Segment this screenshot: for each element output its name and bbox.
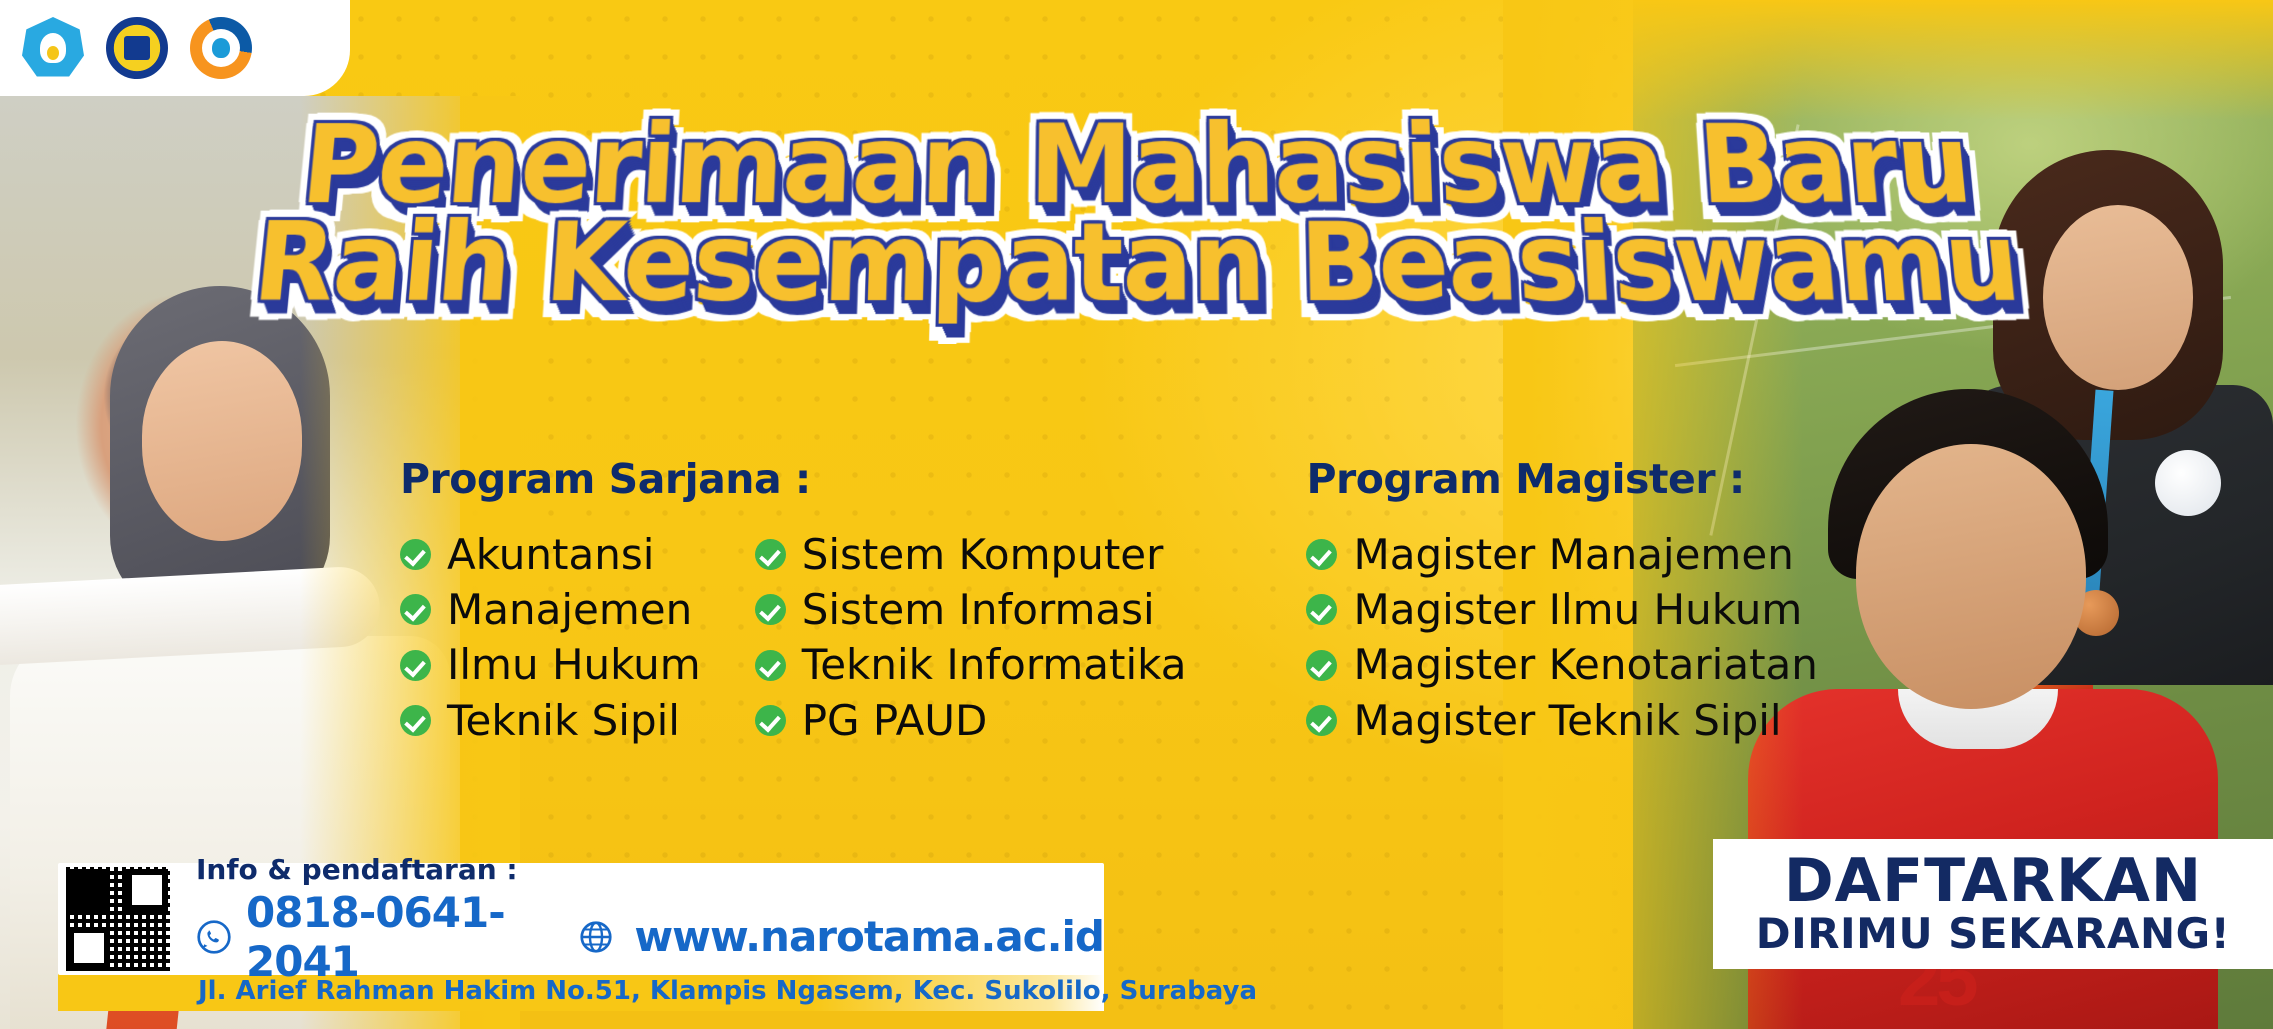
universitas-narotama-logo-icon xyxy=(106,17,168,79)
qr-code[interactable] xyxy=(66,867,170,971)
check-circle-icon xyxy=(400,539,431,570)
cta-banner[interactable]: DAFTARKAN DIRIMU SEKARANG! xyxy=(1713,839,2273,969)
magister-list: Magister Manajemen Magister Ilmu Hukum M… xyxy=(1306,529,1817,746)
check-circle-icon xyxy=(1306,594,1337,625)
program-label: PG PAUD xyxy=(802,695,988,746)
program-label: Ilmu Hukum xyxy=(447,639,701,690)
program-sarjana-title: Program Sarjana : xyxy=(400,455,1186,503)
cta-line-2: DIRIMU SEKARANG! xyxy=(1756,911,2231,957)
check-circle-icon xyxy=(400,594,431,625)
program-magister-title: Program Magister : xyxy=(1306,455,1817,503)
phone-number[interactable]: 0818-0641-2041 xyxy=(246,888,564,986)
logo-panel xyxy=(0,0,350,96)
check-circle-icon xyxy=(400,650,431,681)
sarjana-column-1: Akuntansi Manajemen Ilmu Hukum Teknik Si… xyxy=(400,529,701,750)
list-item: PG PAUD xyxy=(755,695,1187,746)
check-circle-icon xyxy=(755,650,786,681)
list-item: Akuntansi xyxy=(400,529,701,580)
list-item: Teknik Informatika xyxy=(755,639,1187,690)
list-item: Magister Ilmu Hukum xyxy=(1306,584,1817,635)
info-label: Info & pendaftaran : xyxy=(196,853,1104,886)
program-label: Sistem Informasi xyxy=(802,584,1155,635)
list-item: Magister Teknik Sipil xyxy=(1306,695,1817,746)
list-item: Manajemen xyxy=(400,584,701,635)
whatsapp-icon[interactable] xyxy=(196,919,232,955)
sarjana-column-2: Sistem Komputer Sistem Informasi Teknik … xyxy=(755,529,1187,750)
website-url[interactable]: www.narotama.ac.id xyxy=(634,912,1104,961)
check-circle-icon xyxy=(400,705,431,736)
check-circle-icon xyxy=(1306,539,1337,570)
program-label: Akuntansi xyxy=(447,529,654,580)
list-item: Ilmu Hukum xyxy=(400,639,701,690)
face xyxy=(2043,205,2193,390)
right-photo-top-fade xyxy=(1633,0,2273,120)
check-circle-icon xyxy=(1306,705,1337,736)
programs-section: Program Sarjana : Akuntansi Manajemen Il… xyxy=(0,455,2273,750)
program-label: Magister Manajemen xyxy=(1353,529,1793,580)
program-label: Manajemen xyxy=(447,584,692,635)
program-label: Magister Ilmu Hukum xyxy=(1353,584,1802,635)
list-item: Sistem Komputer xyxy=(755,529,1187,580)
tut-wuri-handayani-logo-icon xyxy=(22,17,84,79)
program-sarjana-block: Program Sarjana : Akuntansi Manajemen Il… xyxy=(400,455,1186,750)
cta-line-1: DAFTARKAN xyxy=(1784,851,2202,911)
check-circle-icon xyxy=(755,705,786,736)
contact-card: Info & pendaftaran : 0818-0641-2041 www.… xyxy=(58,863,1104,975)
diktisaintek-berdampak-logo-icon xyxy=(190,17,252,79)
list-item: Sistem Informasi xyxy=(755,584,1187,635)
program-label: Teknik Sipil xyxy=(447,695,680,746)
program-label: Magister Kenotariatan xyxy=(1353,639,1817,690)
check-circle-icon xyxy=(1306,650,1337,681)
promo-banner: 25 Penerimaan Mahasiswa Baru Raih Kesemp… xyxy=(0,0,2273,1029)
check-circle-icon xyxy=(755,594,786,625)
program-label: Teknik Informatika xyxy=(802,639,1187,690)
program-label: Sistem Komputer xyxy=(802,529,1164,580)
check-circle-icon xyxy=(755,539,786,570)
list-item: Teknik Sipil xyxy=(400,695,701,746)
program-label: Magister Teknik Sipil xyxy=(1353,695,1781,746)
program-magister-block: Program Magister : Magister Manajemen Ma… xyxy=(1306,455,1817,750)
list-item: Magister Manajemen xyxy=(1306,529,1817,580)
list-item: Magister Kenotariatan xyxy=(1306,639,1817,690)
globe-icon[interactable] xyxy=(578,919,614,955)
